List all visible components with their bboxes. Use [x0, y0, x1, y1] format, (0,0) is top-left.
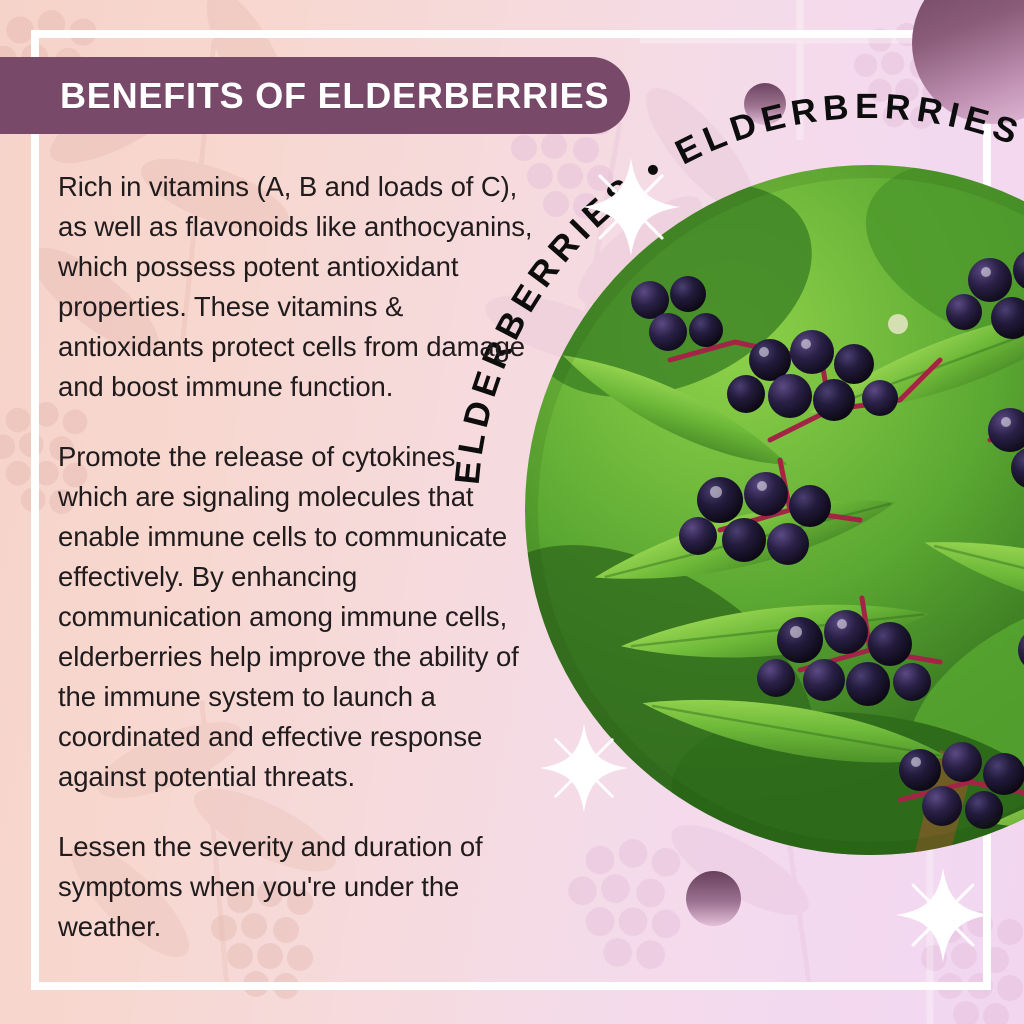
infographic-poster: ELDERBERRIES • ELDERBERRIES • ELDERBERRI…	[0, 0, 1024, 1024]
benefit-paragraph-1: Rich in vitamins (A, B and loads of C), …	[58, 167, 536, 407]
elderberry-badge: ELDERBERRIES • ELDERBERRIES • ELDERBERRI…	[470, 110, 1024, 910]
benefit-paragraph-2: Promote the release of cytokines, which …	[58, 437, 536, 797]
page-title: BENEFITS OF ELDERBERRIES	[0, 75, 609, 117]
benefit-paragraph-3: Lessen the severity and duration of symp…	[58, 827, 536, 947]
benefits-copy: Rich in vitamins (A, B and loads of C), …	[58, 167, 536, 947]
title-banner: BENEFITS OF ELDERBERRIES	[0, 57, 630, 134]
